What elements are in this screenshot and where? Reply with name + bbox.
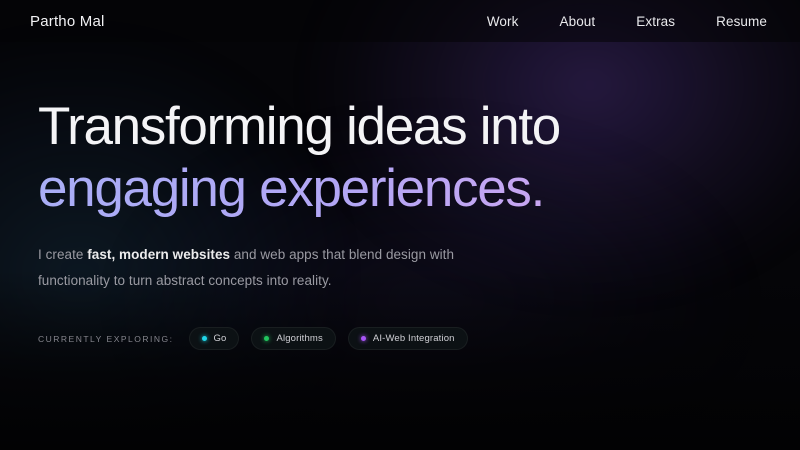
status-dot-icon <box>202 336 207 341</box>
headline-line-1: Transforming ideas into <box>38 96 738 158</box>
pill-label: Go <box>214 333 227 344</box>
pill-go[interactable]: Go <box>189 327 240 350</box>
currently-exploring-label: CURRENTLY EXPLORING: <box>38 334 174 344</box>
nav-link-work[interactable]: Work <box>487 14 519 29</box>
pill-algorithms[interactable]: Algorithms <box>251 327 335 350</box>
navbar: Partho Mal Work About Extras Resume <box>0 0 800 42</box>
hero-subtext: I create fast, modern websites and web a… <box>38 242 508 294</box>
pill-ai-web-integration[interactable]: AI-Web Integration <box>348 327 468 350</box>
nav-links: Work About Extras Resume <box>487 14 770 29</box>
status-dot-icon <box>361 336 366 341</box>
nav-link-resume[interactable]: Resume <box>716 14 767 29</box>
headline-line-2: engaging experiences. <box>38 158 738 220</box>
pill-label: AI-Web Integration <box>373 333 455 344</box>
page-root: Partho Mal Work About Extras Resume Tran… <box>0 0 800 450</box>
currently-exploring-row: CURRENTLY EXPLORING: Go Algorithms AI-We… <box>38 327 738 350</box>
status-dot-icon <box>264 336 269 341</box>
subtext-part-1: I create <box>38 247 87 262</box>
subtext-strong: fast, modern websites <box>87 247 230 262</box>
nav-link-about[interactable]: About <box>559 14 595 29</box>
pill-label: Algorithms <box>276 333 322 344</box>
brand-logo[interactable]: Partho Mal <box>30 13 105 30</box>
hero-section: Transforming ideas into engaging experie… <box>38 96 738 350</box>
exploring-pills: Go Algorithms AI-Web Integration <box>189 327 468 350</box>
nav-link-extras[interactable]: Extras <box>636 14 675 29</box>
